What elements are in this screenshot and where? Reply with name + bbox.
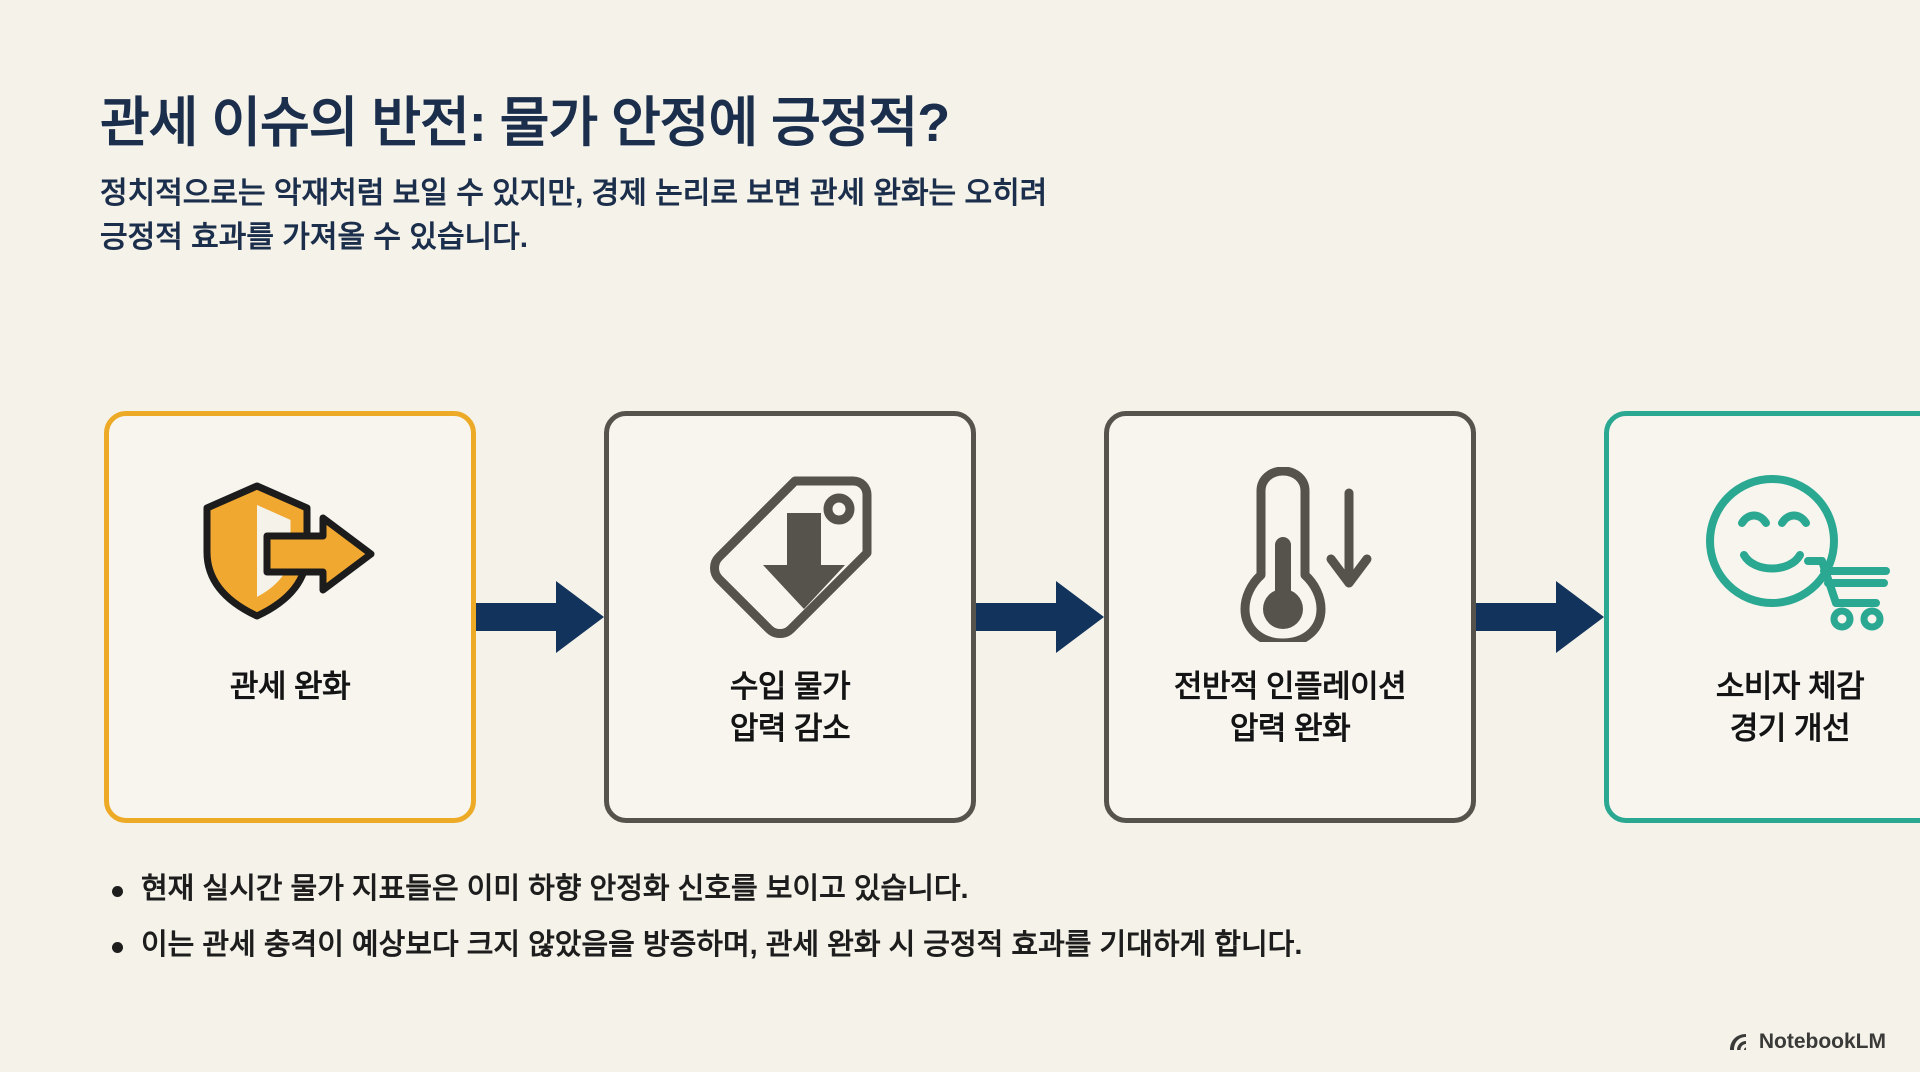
flow-step-consumer-sentiment[interactable]: 소비자 체감 경기 개선 [1604,411,1920,823]
connector-2 [976,411,1104,823]
header: 관세 이슈의 반전: 물가 안정에 긍정적? 정치적으로는 악재처럼 보일 수 … [100,92,1800,259]
page-subtitle: 정치적으로는 악재처럼 보일 수 있지만, 경제 논리로 보면 관세 완화는 오… [100,172,1660,259]
flow-step-tariff-relief[interactable]: 관세 완화 [104,411,476,823]
bullet-text: 이는 관세 충격이 예상보다 크지 않았음을 방증하며, 관세 완화 시 긍정적… [141,924,1824,968]
subtitle-line-2: 긍정적 효과를 가져올 수 있습니다. [100,216,1660,260]
bullet-list: 현재 실시간 물가 지표들은 이미 하향 안정화 신호를 보이고 있습니다. 이… [104,868,1824,979]
flow-step-import-price[interactable]: 수입 물가 압력 감소 [604,411,976,823]
flow-step-label: 전반적 인플레이션 압력 완화 [1174,666,1406,750]
flow-step-label: 수입 물가 압력 감소 [730,666,850,750]
flow-step-label: 관세 완화 [230,666,350,708]
thermometer-down-icon [1205,464,1375,644]
list-item: 현재 실시간 물가 지표들은 이미 하향 안정화 신호를 보이고 있습니다. [104,868,1824,912]
flow-step-inflation-pressure[interactable]: 전반적 인플레이션 압력 완화 [1104,411,1476,823]
right-arrow-icon [976,579,1104,655]
bullet-text: 현재 실시간 물가 지표들은 이미 하향 안정화 신호를 보이고 있습니다. [141,868,1824,912]
watermark-label: NotebookLM [1759,1030,1886,1054]
connector-1 [476,411,604,823]
notebooklm-watermark: NotebookLM [1727,1030,1886,1054]
bullet-dot-icon [112,942,123,953]
flow-step-label: 소비자 체감 경기 개선 [1716,666,1864,750]
list-item: 이는 관세 충격이 예상보다 크지 않았음을 방증하며, 관세 완화 시 긍정적… [104,924,1824,968]
page-title: 관세 이슈의 반전: 물가 안정에 긍정적? [100,92,1800,154]
connector-3 [1476,411,1604,823]
right-arrow-icon [476,579,604,655]
infographic-page: 관세 이슈의 반전: 물가 안정에 긍정적? 정치적으로는 악재처럼 보일 수 … [0,0,1920,1072]
bullet-dot-icon [112,886,123,897]
process-flow: 관세 완화 수입 물가 압력 감소 [104,408,1816,826]
smiley-shopping-cart-icon [1690,464,1890,644]
right-arrow-icon [1476,579,1604,655]
price-tag-down-arrow-icon [695,464,885,644]
subtitle-line-1: 정치적으로는 악재처럼 보일 수 있지만, 경제 논리로 보면 관세 완화는 오… [100,172,1660,216]
notebooklm-logo-icon [1727,1031,1751,1053]
shield-with-arrow-icon [195,464,385,644]
